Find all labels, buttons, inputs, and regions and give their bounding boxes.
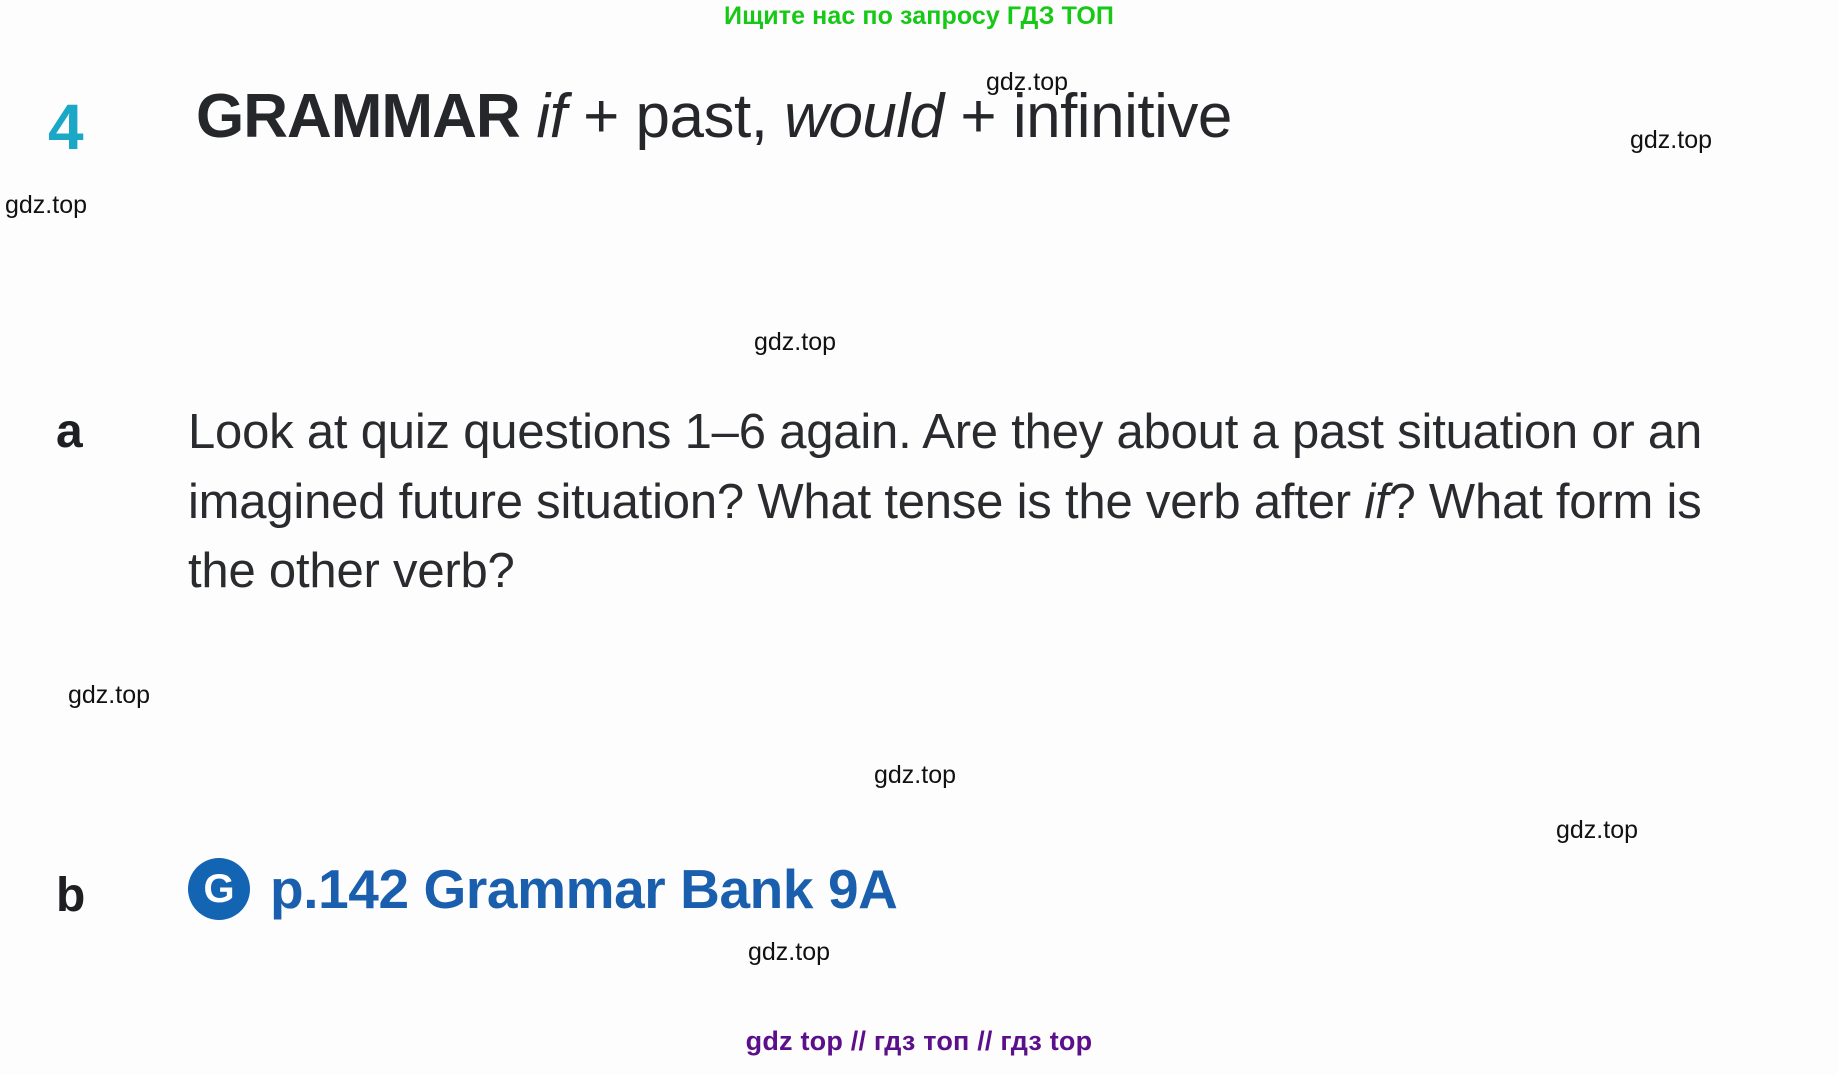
grammar-bank-link[interactable]: p.142 Grammar Bank 9A [270,862,897,917]
promo-banner-text: Ищите нас по запросу ГДЗ ТОП [0,0,1838,32]
watermark-2: gdz.top [5,193,87,218]
watermark-3: gdz.top [754,330,836,355]
item-a-body: Look at quiz questions 1–6 again. Are th… [188,398,1728,607]
grammar-bank-g-icon: G [188,858,250,920]
watermark-0: gdz.top [986,70,1068,95]
watermark-5: gdz.top [874,763,956,788]
watermark-1: gdz.top [1630,128,1712,153]
heading-italic-would: would [784,82,944,151]
watermark-6: gdz.top [1556,818,1638,843]
heading-title: GRAMMAR [196,82,520,151]
footer-note: gdz top // гдз топ // гдз top [0,1026,1838,1057]
exercise-number: 4 [48,95,83,159]
item-a-italic-if: if [1364,475,1388,529]
heading-formula-mid: + past, [566,82,767,151]
watermark-7: gdz.top [748,940,830,965]
watermark-4: gdz.top [68,683,150,708]
item-letter-b: b [56,872,85,920]
heading-italic-if: if [536,82,566,151]
item-letter-a: a [56,408,83,456]
page-root: Ищите нас по запросу ГДЗ ТОП 4 GRAMMAR i… [0,0,1838,1075]
exercise-heading: GRAMMAR if + past, would + infinitive [196,80,1256,153]
item-b-body: G p.142 Grammar Bank 9A [188,858,897,920]
